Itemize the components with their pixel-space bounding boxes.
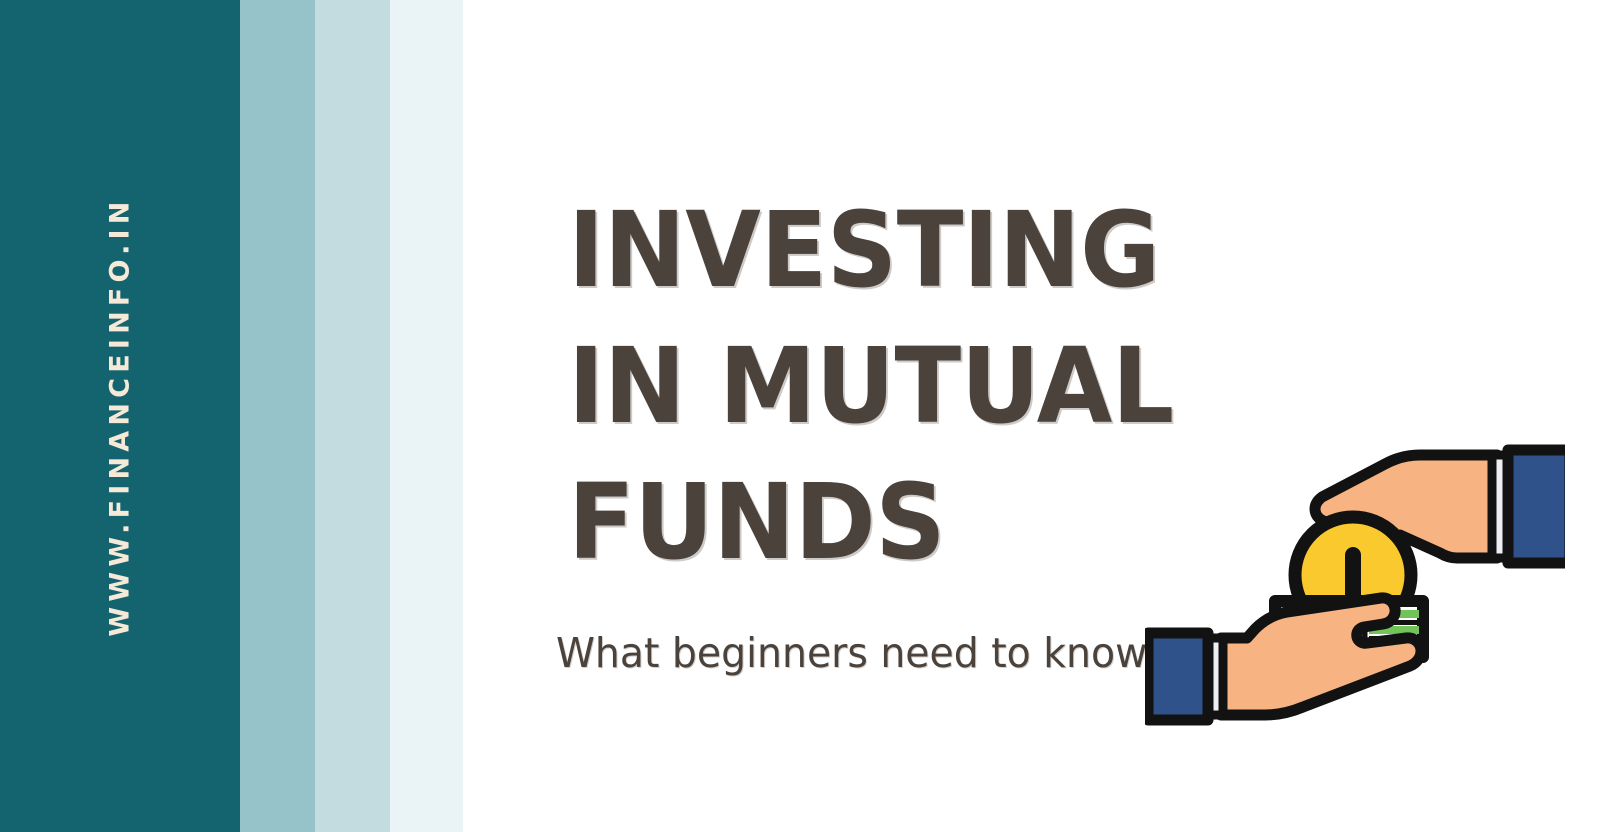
- title-line-1: INVESTING: [568, 182, 1282, 318]
- coin-slot-mark: [1345, 547, 1361, 603]
- stripe-pale-teal: [390, 0, 463, 832]
- title-line-2: IN MUTUAL: [568, 318, 1282, 454]
- stripe-dark-teal: [0, 0, 240, 832]
- upper-hand-sleeve: [1508, 450, 1565, 563]
- hands-money-icon: [1145, 440, 1565, 730]
- lower-hand-group: [1148, 598, 1421, 720]
- banner-canvas: WWW.FINANCEINFO.IN INVESTING IN MUTUAL F…: [0, 0, 1600, 832]
- stripe-medium-teal: [240, 0, 315, 832]
- stripe-light-teal: [315, 0, 390, 832]
- lower-hand-shape: [1221, 598, 1421, 715]
- hands-money-illustration: [1145, 440, 1565, 730]
- page-subtitle: What beginners need to know: [556, 627, 1147, 679]
- lower-hand-sleeve: [1148, 633, 1208, 720]
